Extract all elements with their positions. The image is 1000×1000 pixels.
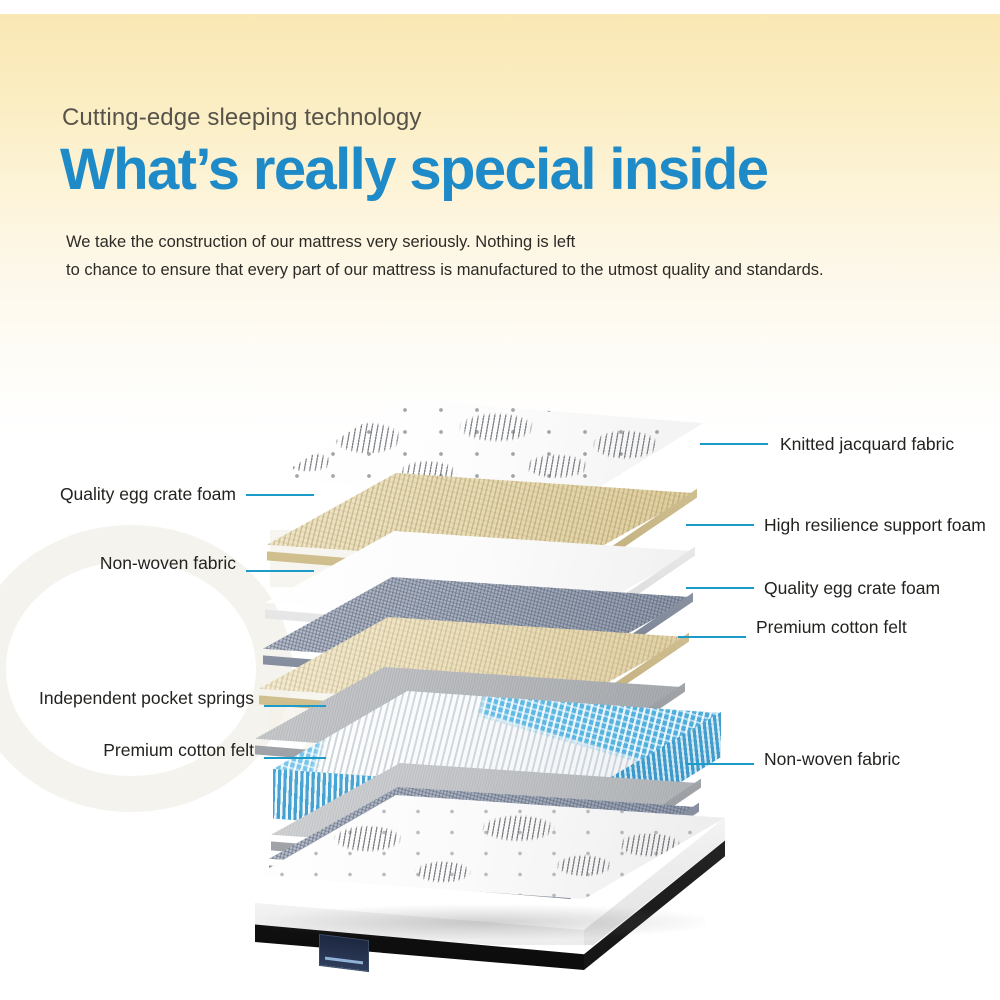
cream-gradient-background bbox=[0, 14, 1000, 434]
callout-knitted-jacquard-fabric: Knitted jacquard fabric bbox=[780, 434, 954, 455]
mattress-drop-shadow bbox=[265, 905, 705, 939]
leader-line-knitted-jacquard-fabric bbox=[700, 443, 768, 445]
intro-line-1: We take the construction of our mattress… bbox=[66, 228, 926, 256]
page-title: What’s really special inside bbox=[60, 140, 767, 201]
top-white-strip bbox=[0, 0, 1000, 14]
callout-high-resilience-support-foam: High resilience support foam bbox=[764, 515, 986, 536]
eyebrow-text: Cutting-edge sleeping technology bbox=[62, 104, 421, 132]
leader-line-premium-cotton-felt-upper bbox=[678, 636, 746, 638]
callout-non-woven-fabric-upper: Non-woven fabric bbox=[0, 553, 236, 574]
leader-line-non-woven-fabric-upper bbox=[246, 570, 314, 572]
leader-line-independent-pocket-springs bbox=[264, 705, 326, 707]
intro-paragraph: We take the construction of our mattress… bbox=[66, 228, 926, 285]
leader-line-high-resilience-support-foam bbox=[686, 524, 754, 526]
callout-quality-egg-crate-foam-upper: Quality egg crate foam bbox=[0, 484, 236, 505]
brand-badge bbox=[319, 934, 369, 972]
callout-quality-egg-crate-foam-lower: Quality egg crate foam bbox=[764, 578, 940, 599]
callout-premium-cotton-felt-lower: Premium cotton felt bbox=[0, 740, 254, 761]
callout-non-woven-fabric-lower: Non-woven fabric bbox=[764, 749, 900, 770]
callout-independent-pocket-springs: Independent pocket springs bbox=[0, 688, 254, 709]
infographic-page: Cutting-edge sleeping technology What’s … bbox=[0, 0, 1000, 1000]
callout-premium-cotton-felt-upper: Premium cotton felt bbox=[756, 617, 907, 638]
leader-line-non-woven-fabric-lower bbox=[686, 763, 754, 765]
intro-line-2: to chance to ensure that every part of o… bbox=[66, 256, 926, 284]
leader-line-quality-egg-crate-foam-lower bbox=[686, 587, 754, 589]
exploded-mattress-diagram bbox=[255, 395, 735, 940]
leader-line-quality-egg-crate-foam-upper bbox=[246, 494, 314, 496]
leader-line-premium-cotton-felt-lower bbox=[264, 757, 326, 759]
